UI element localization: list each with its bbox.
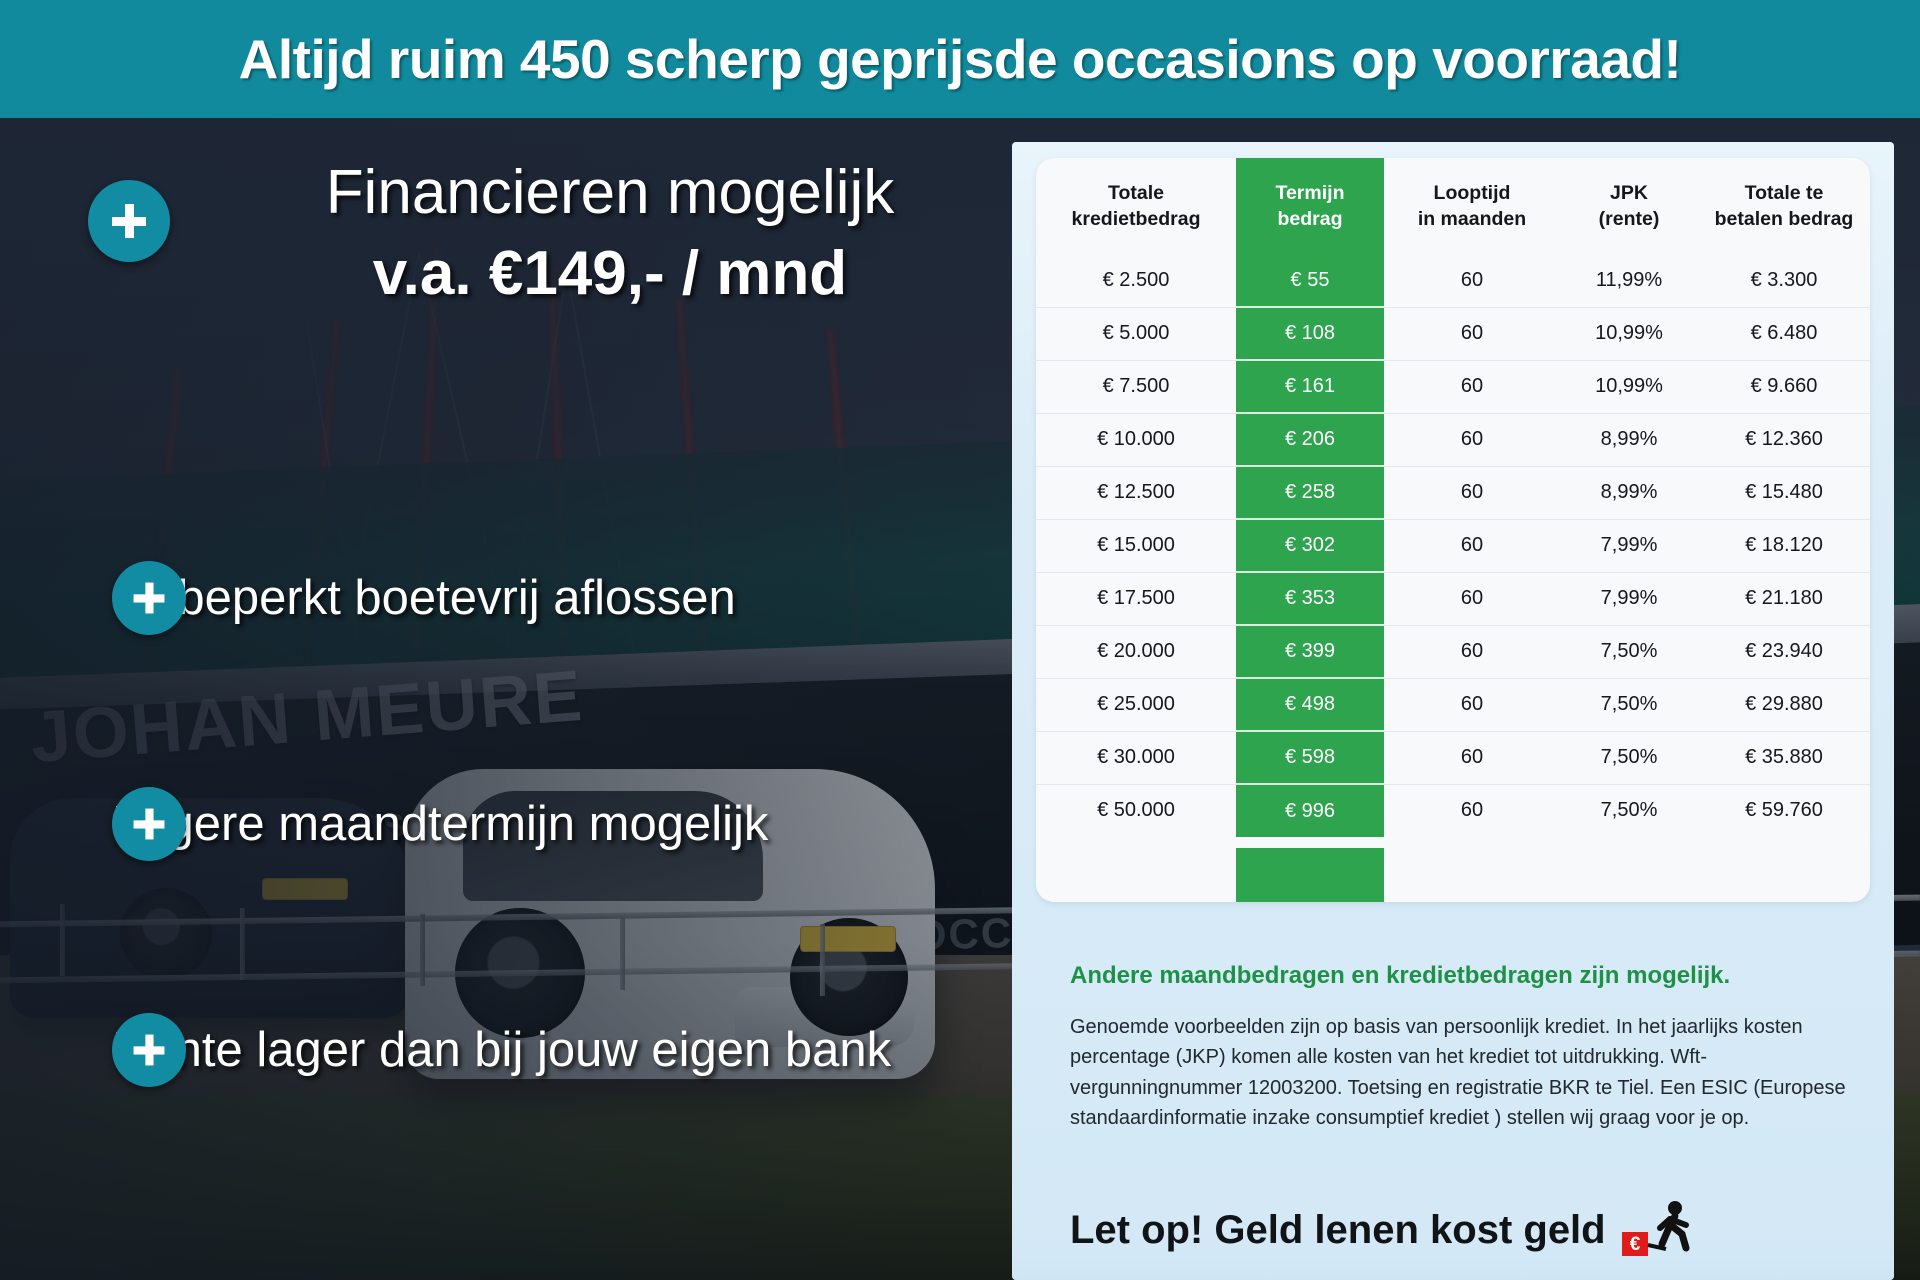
cell-termijn: € 258 xyxy=(1236,466,1384,519)
cell-jpk: 8,99% xyxy=(1560,466,1698,519)
note-body: Genoemde voorbeelden zijn op basis van p… xyxy=(1070,1012,1850,1134)
cell-looptijd: 60 xyxy=(1384,625,1560,678)
col-header-looptijd-l1: Looptijd xyxy=(1434,182,1511,204)
col-header-termijn-l2: bedrag xyxy=(1277,208,1342,230)
table-row: € 20.000 € 399 60 7,50% € 23.940 xyxy=(1036,625,1870,678)
headline-line-2: v.a. €149,- / mnd xyxy=(215,239,1005,308)
cell-termijn: € 598 xyxy=(1236,731,1384,784)
top-banner: Altijd ruim 450 scherp geprijsde occasio… xyxy=(0,0,1920,118)
col-header-looptijd-l2: in maanden xyxy=(1418,208,1526,230)
cell-jpk: 10,99% xyxy=(1560,307,1698,360)
banner-title: Altijd ruim 450 scherp geprijsde occasio… xyxy=(239,27,1682,91)
bullet-item-3: Rente lager dan bij jouw eigen bank xyxy=(112,1022,1012,1078)
table-row: € 50.000 € 996 60 7,50% € 59.760 xyxy=(1036,784,1870,837)
col-header-krediet: Totale kredietbedrag xyxy=(1036,158,1236,254)
col-header-looptijd: Looptijd in maanden xyxy=(1384,158,1560,254)
table-row: € 7.500 € 161 60 10,99% € 9.660 xyxy=(1036,360,1870,413)
col-header-totaal-l1: Totale te xyxy=(1745,182,1824,204)
cell-looptijd: 60 xyxy=(1384,678,1560,731)
table-row: € 2.500 € 55 60 11,99% € 3.300 xyxy=(1036,254,1870,307)
cell-totaal: € 35.880 xyxy=(1698,731,1870,784)
cell-krediet: € 15.000 xyxy=(1036,519,1236,572)
col-header-termijn: Termijn bedrag xyxy=(1236,158,1384,254)
finance-panel: Totale kredietbedrag Termijn bedrag Loop… xyxy=(1012,142,1894,1280)
col-header-totaal-l2: betalen bedrag xyxy=(1715,208,1854,230)
highlight-column-tail xyxy=(1236,848,1384,902)
rates-table: Totale kredietbedrag Termijn bedrag Loop… xyxy=(1036,158,1870,837)
bullet-label-1: Onbeperkt boetevrij aflossen xyxy=(112,570,736,626)
cell-looptijd: 60 xyxy=(1384,413,1560,466)
bullet-label-2: Lagere maandtermijn mogelijk xyxy=(112,796,768,852)
table-row: € 5.000 € 108 60 10,99% € 6.480 xyxy=(1036,307,1870,360)
cell-termijn: € 108 xyxy=(1236,307,1384,360)
table-row: € 17.500 € 353 60 7,99% € 21.180 xyxy=(1036,572,1870,625)
bullet-label-3: Rente lager dan bij jouw eigen bank xyxy=(112,1022,891,1078)
cell-jpk: 8,99% xyxy=(1560,413,1698,466)
headline-line-1: Financieren mogelijk xyxy=(215,158,1005,227)
cell-termijn: € 206 xyxy=(1236,413,1384,466)
cell-looptijd: 60 xyxy=(1384,307,1560,360)
cell-krediet: € 10.000 xyxy=(1036,413,1236,466)
cell-termijn: € 399 xyxy=(1236,625,1384,678)
plus-icon-bullet-2 xyxy=(112,787,186,861)
plus-icon-bullet-1 xyxy=(112,561,186,635)
cell-totaal: € 29.880 xyxy=(1698,678,1870,731)
cell-totaal: € 18.120 xyxy=(1698,519,1870,572)
left-content: Financieren mogelijk v.a. €149,- / mnd O… xyxy=(0,118,1010,1280)
bullet-item-2: Lagere maandtermijn mogelijk xyxy=(112,796,1012,852)
rates-table-body: € 2.500 € 55 60 11,99% € 3.300 € 5.000 €… xyxy=(1036,254,1870,837)
svg-text:€: € xyxy=(1629,1234,1640,1255)
cell-jpk: 7,50% xyxy=(1560,625,1698,678)
table-row: € 12.500 € 258 60 8,99% € 15.480 xyxy=(1036,466,1870,519)
afm-money-warning-icon: € xyxy=(1620,1200,1694,1260)
cell-jpk: 7,50% xyxy=(1560,731,1698,784)
cell-totaal: € 59.760 xyxy=(1698,784,1870,837)
cell-totaal: € 15.480 xyxy=(1698,466,1870,519)
cell-looptijd: 60 xyxy=(1384,731,1560,784)
finance-promo-poster: Altijd ruim 450 scherp geprijsde occasio… xyxy=(0,0,1920,1280)
cell-looptijd: 60 xyxy=(1384,572,1560,625)
cell-krediet: € 50.000 xyxy=(1036,784,1236,837)
table-row: € 25.000 € 498 60 7,50% € 29.880 xyxy=(1036,678,1870,731)
cell-looptijd: 60 xyxy=(1384,254,1560,307)
cell-jpk: 7,99% xyxy=(1560,519,1698,572)
note-title: Andere maandbedragen en kredietbedragen … xyxy=(1070,962,1850,990)
cell-krediet: € 17.500 xyxy=(1036,572,1236,625)
rates-table-card: Totale kredietbedrag Termijn bedrag Loop… xyxy=(1036,158,1870,902)
cell-termijn: € 353 xyxy=(1236,572,1384,625)
col-header-totaal: Totale te betalen bedrag xyxy=(1698,158,1870,254)
table-row: € 10.000 € 206 60 8,99% € 12.360 xyxy=(1036,413,1870,466)
cell-krediet: € 20.000 xyxy=(1036,625,1236,678)
panel-bottom-edge xyxy=(1012,1258,1894,1280)
cell-krediet: € 25.000 xyxy=(1036,678,1236,731)
col-header-krediet-l2: kredietbedrag xyxy=(1072,208,1201,230)
cell-termijn: € 55 xyxy=(1236,254,1384,307)
cell-totaal: € 9.660 xyxy=(1698,360,1870,413)
cell-totaal: € 12.360 xyxy=(1698,413,1870,466)
cell-totaal: € 23.940 xyxy=(1698,625,1870,678)
cell-termijn: € 498 xyxy=(1236,678,1384,731)
col-header-termijn-l1: Termijn xyxy=(1276,182,1345,204)
cell-termijn: € 996 xyxy=(1236,784,1384,837)
finance-note: Andere maandbedragen en kredietbedragen … xyxy=(1070,962,1850,1134)
cell-totaal: € 21.180 xyxy=(1698,572,1870,625)
cell-jpk: 7,50% xyxy=(1560,678,1698,731)
plus-icon-headline xyxy=(88,180,170,262)
cell-totaal: € 3.300 xyxy=(1698,254,1870,307)
col-header-jpk-l2: (rente) xyxy=(1599,208,1660,230)
col-header-jpk-l1: JPK xyxy=(1610,182,1648,204)
cell-totaal: € 6.480 xyxy=(1698,307,1870,360)
cell-jpk: 11,99% xyxy=(1560,254,1698,307)
cell-krediet: € 30.000 xyxy=(1036,731,1236,784)
cell-jpk: 7,50% xyxy=(1560,784,1698,837)
col-header-jpk: JPK (rente) xyxy=(1560,158,1698,254)
table-header-row: Totale kredietbedrag Termijn bedrag Loop… xyxy=(1036,158,1870,254)
cell-looptijd: 60 xyxy=(1384,360,1560,413)
cell-jpk: 10,99% xyxy=(1560,360,1698,413)
cell-termijn: € 161 xyxy=(1236,360,1384,413)
cell-krediet: € 5.000 xyxy=(1036,307,1236,360)
cell-looptijd: 60 xyxy=(1384,519,1560,572)
cell-jpk: 7,99% xyxy=(1560,572,1698,625)
cell-krediet: € 12.500 xyxy=(1036,466,1236,519)
table-row: € 30.000 € 598 60 7,50% € 35.880 xyxy=(1036,731,1870,784)
credit-warning: Let op! Geld lenen kost geld € xyxy=(1070,1200,1694,1260)
cell-looptijd: 60 xyxy=(1384,784,1560,837)
bullet-item-1: Onbeperkt boetevrij aflossen xyxy=(112,570,1012,626)
headline-block: Financieren mogelijk v.a. €149,- / mnd xyxy=(215,158,1005,309)
cell-krediet: € 7.500 xyxy=(1036,360,1236,413)
table-row: € 15.000 € 302 60 7,99% € 18.120 xyxy=(1036,519,1870,572)
plus-icon-bullet-3 xyxy=(112,1013,186,1087)
cell-looptijd: 60 xyxy=(1384,466,1560,519)
col-header-krediet-l1: Totale xyxy=(1108,182,1164,204)
cell-termijn: € 302 xyxy=(1236,519,1384,572)
credit-warning-text: Let op! Geld lenen kost geld xyxy=(1070,1208,1606,1253)
cell-krediet: € 2.500 xyxy=(1036,254,1236,307)
